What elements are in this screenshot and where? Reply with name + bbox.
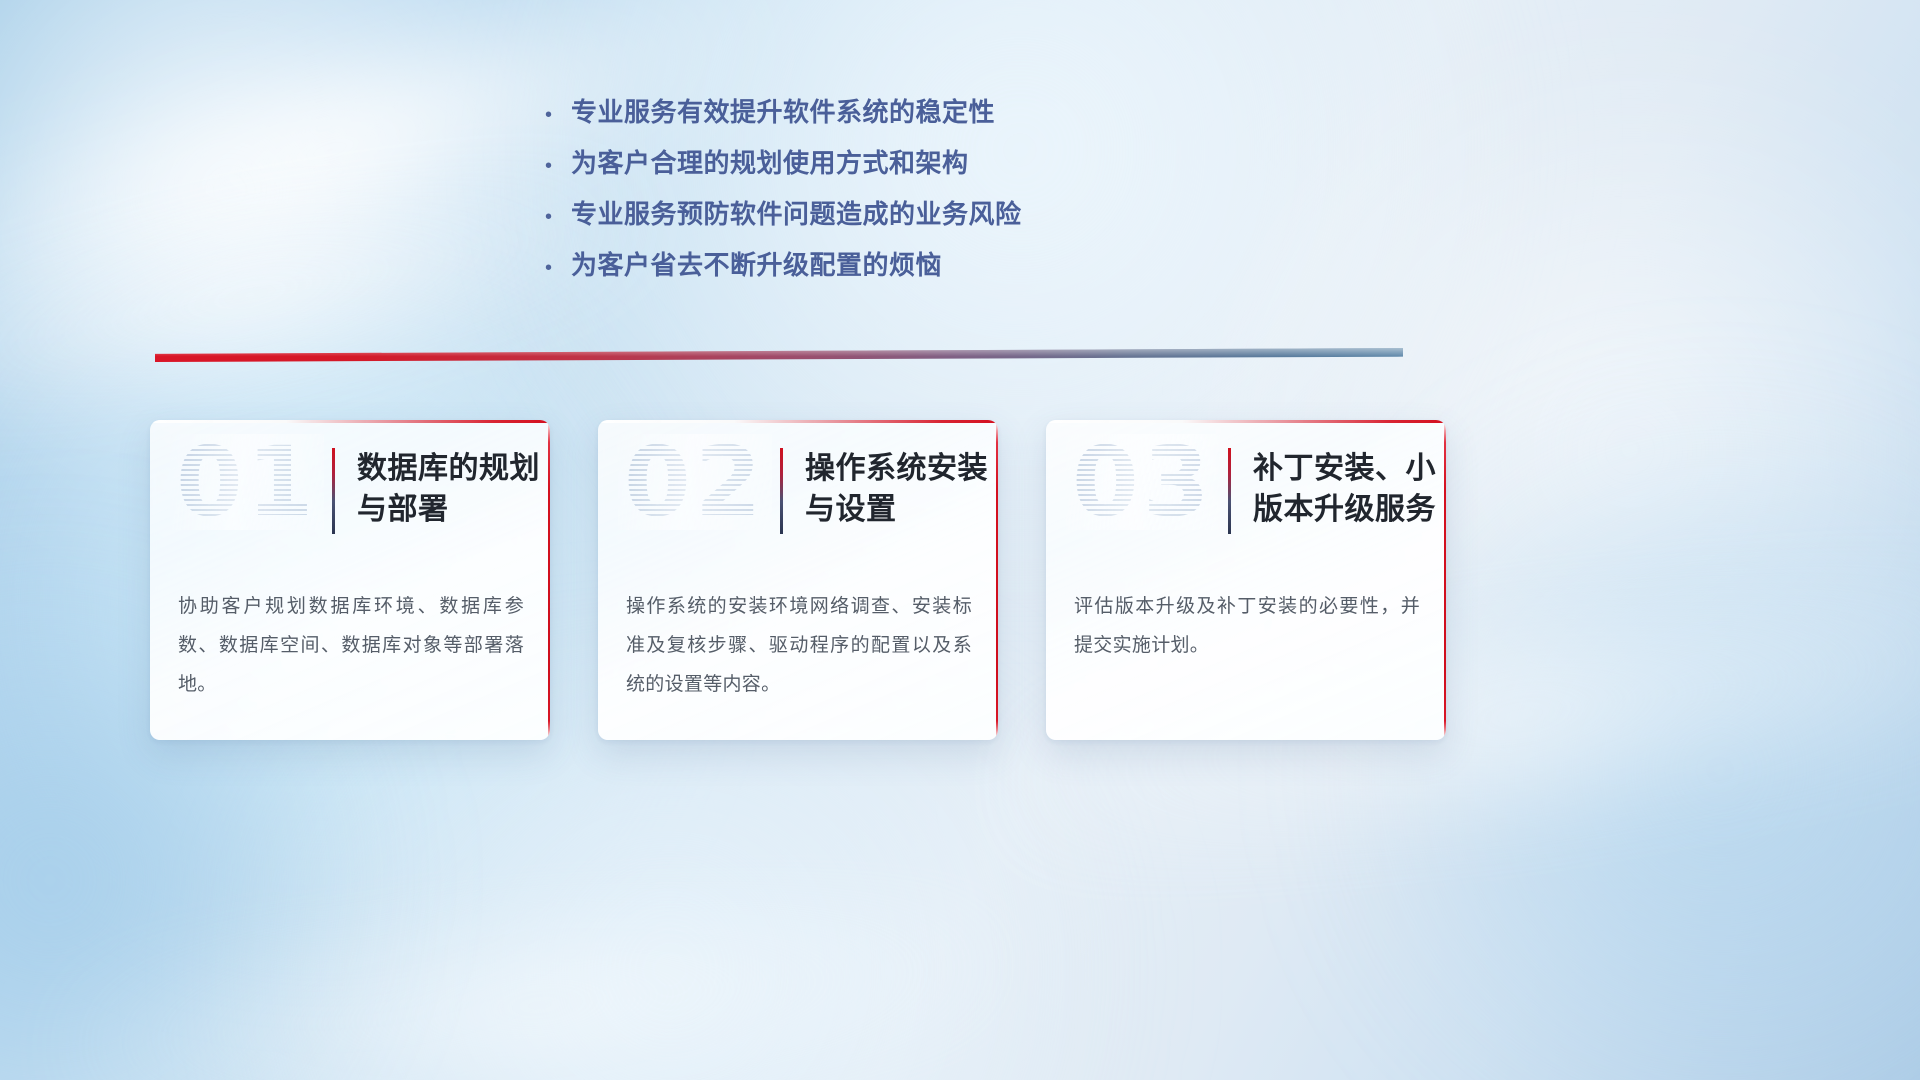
card-number: 03 [1072, 434, 1214, 530]
card-number: 01 [176, 434, 318, 530]
divider-gloss [155, 348, 1403, 362]
bullet-dot-icon: • [545, 156, 571, 176]
card-title-wrap: 补丁安装、小版本升级服务 [1228, 448, 1438, 534]
service-card-02[interactable]: 02 操作系统安装与设置 操作系统的安装环境网络调查、安装标准及复核步骤、驱动程… [598, 420, 998, 740]
service-card-01[interactable]: 01 数据库的规划与部署 协助客户规划数据库环境、数据库参数、数据库空间、数据库… [150, 420, 550, 740]
card-header: 03 补丁安装、小版本升级服务 [1046, 420, 1446, 572]
service-card-list: 01 数据库的规划与部署 协助客户规划数据库环境、数据库参数、数据库空间、数据库… [150, 420, 1446, 740]
service-card-03[interactable]: 03 补丁安装、小版本升级服务 评估版本升级及补丁安装的必要性，并提交实施计划。 [1046, 420, 1446, 740]
card-number: 02 [624, 434, 766, 530]
list-item: • 为客户省去不断升级配置的烦恼 [545, 245, 1165, 296]
card-title-wrap: 操作系统安装与设置 [780, 448, 990, 534]
list-item: • 为客户合理的规划使用方式和架构 [545, 143, 1165, 194]
list-item-label: 专业服务预防软件问题造成的业务风险 [571, 194, 1022, 231]
title-divider-bar [332, 448, 335, 534]
card-title-wrap: 数据库的规划与部署 [332, 448, 542, 534]
list-item-label: 为客户省去不断升级配置的烦恼 [571, 245, 942, 282]
list-item: • 专业服务有效提升软件系统的稳定性 [545, 92, 1165, 143]
list-item: • 专业服务预防软件问题造成的业务风险 [545, 194, 1165, 245]
card-title: 操作系统安装与设置 [805, 448, 990, 531]
bullet-dot-icon: • [545, 207, 571, 227]
list-item-label: 专业服务有效提升软件系统的稳定性 [571, 92, 995, 129]
title-divider-bar [780, 448, 783, 534]
bullet-dot-icon: • [545, 258, 571, 278]
title-divider-bar [1228, 448, 1231, 534]
card-description: 协助客户规划数据库环境、数据库参数、数据库空间、数据库对象等部署落地。 [178, 588, 524, 705]
card-description: 评估版本升级及补丁安装的必要性，并提交实施计划。 [1074, 588, 1420, 666]
card-header: 02 操作系统安装与设置 [598, 420, 998, 572]
card-title: 补丁安装、小版本升级服务 [1253, 448, 1438, 531]
section-divider [155, 348, 1403, 362]
card-header: 01 数据库的规划与部署 [150, 420, 550, 572]
benefits-bullet-list: • 专业服务有效提升软件系统的稳定性 • 为客户合理的规划使用方式和架构 • 专… [545, 92, 1165, 296]
list-item-label: 为客户合理的规划使用方式和架构 [571, 143, 969, 180]
bullet-dot-icon: • [545, 105, 571, 125]
card-description: 操作系统的安装环境网络调查、安装标准及复核步骤、驱动程序的配置以及系统的设置等内… [626, 588, 972, 705]
card-title: 数据库的规划与部署 [357, 448, 542, 531]
